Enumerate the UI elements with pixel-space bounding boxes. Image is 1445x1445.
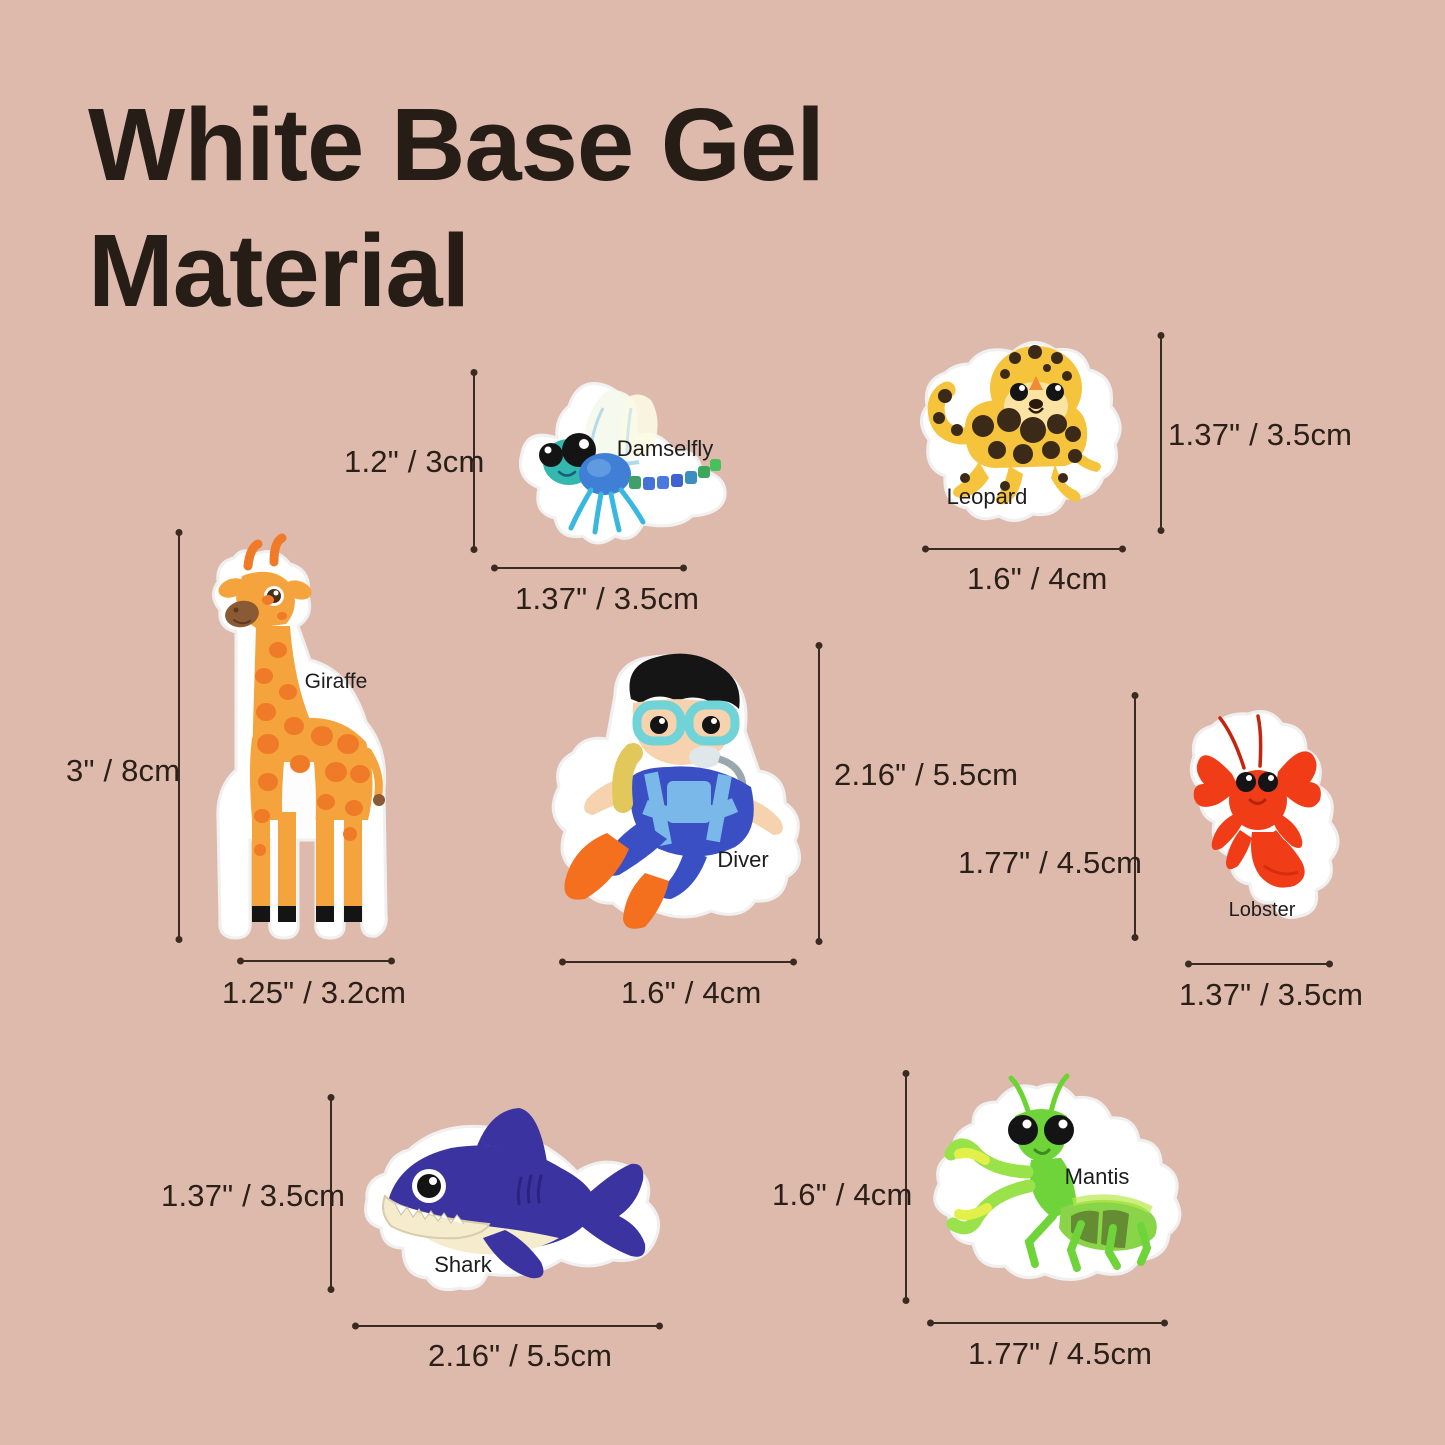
mantis-height-label: 1.6" / 4cm bbox=[772, 1177, 913, 1213]
sticker-damselfly[interactable]: Damselfly bbox=[487, 358, 737, 553]
shark-width-label: 2.16" / 5.5cm bbox=[428, 1338, 612, 1374]
mantis-width-label: 1.77" / 4.5cm bbox=[968, 1336, 1152, 1372]
lobster-name-text: Lobster bbox=[1229, 899, 1296, 921]
leopard-name-text: Leopard bbox=[947, 484, 1028, 509]
mantis-name-text: Mantis bbox=[1065, 1164, 1130, 1189]
infographic-canvas: White Base Gel Material 1.2" / 3cm 1.37"… bbox=[0, 0, 1445, 1445]
diver-height-line bbox=[818, 645, 820, 942]
lobster-height-label: 1.77" / 4.5cm bbox=[958, 845, 1142, 881]
leopard-height-line bbox=[1160, 335, 1162, 531]
diver-height-label: 2.16" / 5.5cm bbox=[834, 757, 1018, 793]
giraffe-height-label: 3" / 8cm bbox=[66, 753, 180, 789]
diver-width-line bbox=[562, 961, 794, 963]
damselfly-width-label: 1.37" / 3.5cm bbox=[515, 581, 699, 617]
damselfly-height-label: 1.2" / 3cm bbox=[344, 444, 485, 480]
giraffe-width-label: 1.25" / 3.2cm bbox=[222, 975, 406, 1011]
diver-width-label: 1.6" / 4cm bbox=[621, 975, 762, 1011]
sticker-diver[interactable]: Diver bbox=[545, 635, 810, 935]
damselfly-name-text: Damselfly bbox=[617, 436, 714, 461]
diver-name-text: Diver bbox=[717, 847, 768, 872]
sticker-shark[interactable]: Shark bbox=[355, 1088, 665, 1303]
damselfly-width-line bbox=[494, 567, 684, 569]
lobster-height-line bbox=[1134, 695, 1136, 938]
shark-name-text: Shark bbox=[434, 1252, 492, 1277]
sticker-mantis[interactable]: Mantis bbox=[925, 1058, 1190, 1303]
leopard-width-line bbox=[925, 548, 1123, 550]
giraffe-name-text: Giraffe bbox=[305, 670, 368, 693]
sticker-giraffe[interactable]: Giraffe bbox=[190, 520, 390, 950]
leopard-width-label: 1.6" / 4cm bbox=[967, 561, 1108, 597]
leopard-height-label: 1.37" / 3.5cm bbox=[1168, 417, 1352, 453]
shark-width-line bbox=[355, 1325, 660, 1327]
page-title: White Base Gel Material bbox=[88, 82, 1088, 333]
giraffe-width-line bbox=[240, 960, 392, 962]
sticker-leopard[interactable]: Leopard bbox=[905, 318, 1135, 533]
mantis-width-line bbox=[930, 1322, 1165, 1324]
lobster-width-line bbox=[1188, 963, 1330, 965]
lobster-width-label: 1.37" / 3.5cm bbox=[1179, 977, 1363, 1013]
shark-height-label: 1.37" / 3.5cm bbox=[161, 1178, 345, 1214]
giraffe-height-line bbox=[178, 532, 180, 940]
sticker-lobster[interactable]: Lobster bbox=[1178, 690, 1346, 940]
